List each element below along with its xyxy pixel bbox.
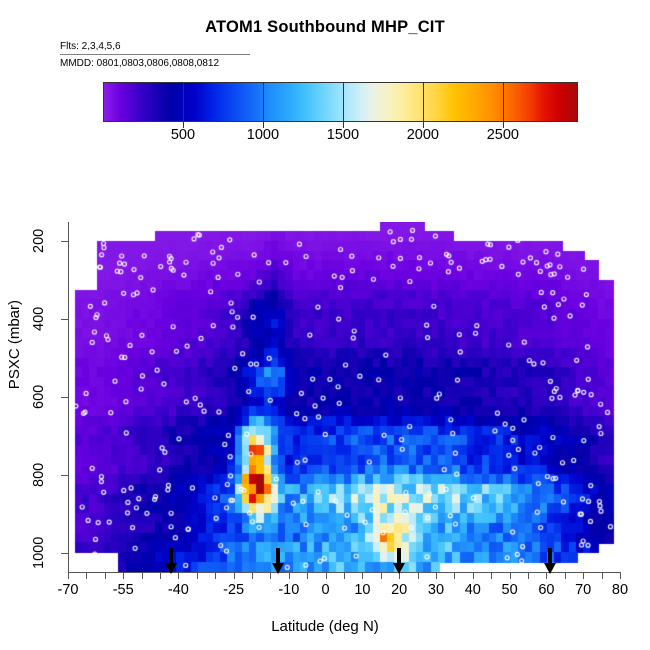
colorbar-tick-label: 2500 (487, 127, 519, 143)
colorbar-tick-line (343, 82, 344, 122)
heatmap-canvas (68, 222, 620, 572)
y-axis-tick-label: 800 (31, 449, 47, 501)
x-axis-tick-label: 20 (391, 582, 407, 598)
mmdd-annotation: MMDD: 0801,0803,0806,0808,0812 (60, 57, 260, 70)
x-axis-tick (436, 572, 437, 579)
x-axis-tick (123, 572, 124, 579)
flights-annotation: Flts: 2,3,4,5,6 (60, 40, 260, 53)
x-axis-tick (491, 572, 492, 579)
x-axis-tick (215, 572, 216, 579)
x-axis-tick-label: 10 (354, 582, 370, 598)
flight-arrow-marker (544, 548, 557, 574)
x-axis-tick (510, 572, 511, 579)
page-title: ATOM1 Southbound MHP_CIT (0, 18, 650, 37)
x-axis-tick-label: 80 (612, 582, 628, 598)
x-axis-tick (178, 572, 179, 579)
flight-arrow-marker (271, 548, 284, 574)
y-axis-tick-label: 200 (31, 215, 47, 267)
y-axis-tick-label: 600 (31, 371, 47, 423)
colorbar (103, 82, 578, 122)
x-axis-tick-label: -25 (223, 582, 244, 598)
x-axis-tick-label: -40 (168, 582, 189, 598)
x-axis-tick-label: -10 (278, 582, 299, 598)
x-axis-tick (344, 572, 345, 579)
x-axis-tick (473, 572, 474, 579)
x-axis-tick (234, 572, 235, 579)
x-axis-tick (197, 572, 198, 579)
colorbar-tick-label: 2000 (407, 127, 439, 143)
x-axis-tick (454, 572, 455, 579)
y-axis-tick (61, 553, 68, 554)
x-axis-tick (142, 572, 143, 579)
x-axis-tick (565, 572, 566, 579)
colorbar-tick-label: 500 (171, 127, 195, 143)
colorbar-tick-line (183, 82, 184, 122)
x-axis-tick (418, 572, 419, 579)
x-axis-tick (620, 572, 621, 579)
y-axis-tick (61, 397, 68, 398)
flight-arrow-marker (393, 548, 406, 574)
y-axis-tick (61, 241, 68, 242)
x-axis-tick (602, 572, 603, 579)
x-axis-tick-label: 0 (322, 582, 330, 598)
x-axis-tick (528, 572, 529, 579)
x-axis-tick (68, 572, 69, 579)
x-axis-title: Latitude (deg N) (0, 618, 650, 635)
x-axis-tick (583, 572, 584, 579)
annotation-block: Flts: 2,3,4,5,6 MMDD: 0801,0803,0806,080… (60, 40, 260, 70)
colorbar-tick-line (503, 82, 504, 122)
annotation-divider (60, 54, 250, 55)
x-axis-tick (105, 572, 106, 579)
x-axis-tick-label: 40 (465, 582, 481, 598)
colorbar-tick-label: 1500 (327, 127, 359, 143)
y-axis-tick (61, 475, 68, 476)
x-axis-tick (252, 572, 253, 579)
x-axis-tick-label: 30 (428, 582, 444, 598)
flight-arrow-marker (165, 548, 178, 574)
x-axis-tick (362, 572, 363, 579)
y-axis-tick (61, 319, 68, 320)
figure-root: ATOM1 Southbound MHP_CIT Flts: 2,3,4,5,6… (0, 0, 650, 650)
x-axis-tick-label: 60 (538, 582, 554, 598)
colorbar-tick-line (263, 82, 264, 122)
x-axis-tick (160, 572, 161, 579)
y-axis-title: PSXC (mbar) (6, 300, 23, 389)
x-axis-tick (381, 572, 382, 579)
x-axis-tick (86, 572, 87, 579)
colorbar-tick-line (423, 82, 424, 122)
y-axis-tick-label: 400 (31, 293, 47, 345)
x-axis-tick-label: -70 (58, 582, 79, 598)
x-axis-tick (289, 572, 290, 579)
heatmap-plot-area (68, 222, 620, 572)
x-axis-tick (326, 572, 327, 579)
y-axis-tick-label: 1000 (31, 527, 47, 579)
x-axis-tick-label: 50 (502, 582, 518, 598)
x-axis-tick (307, 572, 308, 579)
x-axis-tick-label: 70 (575, 582, 591, 598)
colorbar-gradient (103, 82, 578, 122)
colorbar-tick-label: 1000 (247, 127, 279, 143)
x-axis-tick-label: -55 (113, 582, 134, 598)
